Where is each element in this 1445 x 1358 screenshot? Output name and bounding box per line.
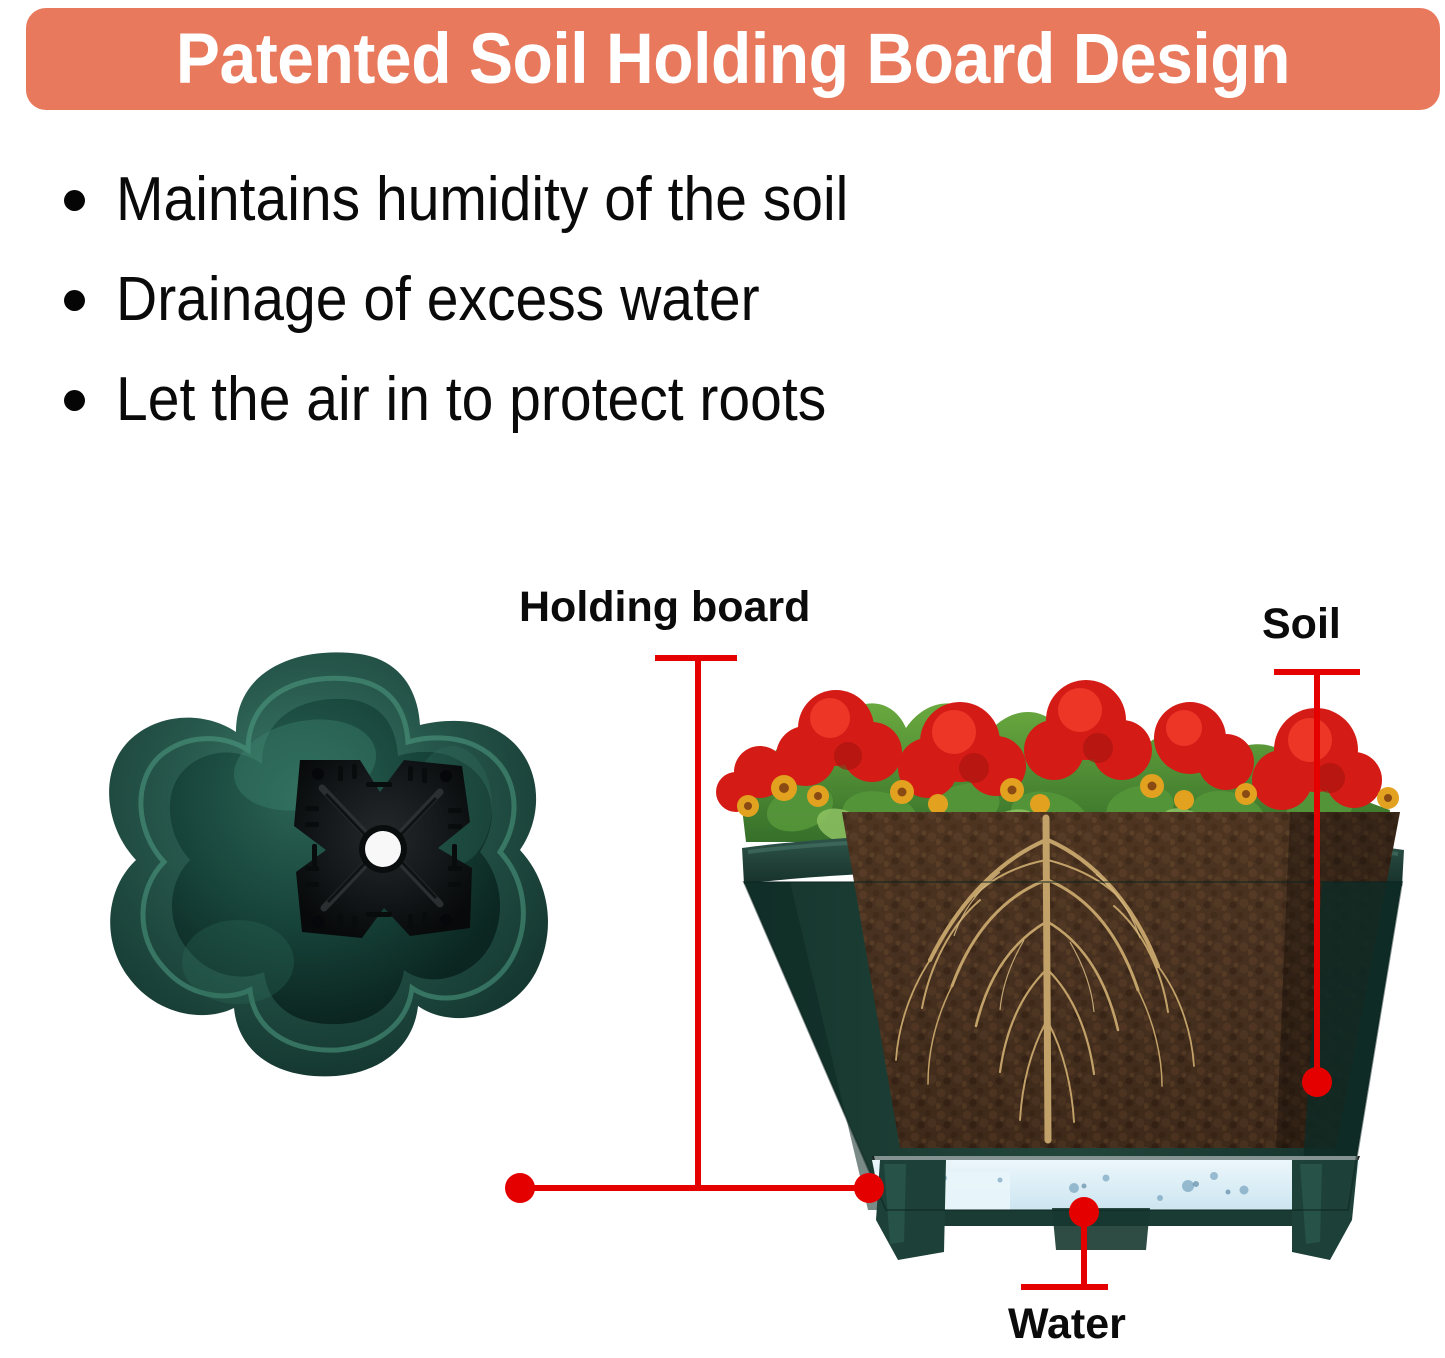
left-planter-illustration <box>109 652 548 1076</box>
callout-label-water: Water <box>1008 1303 1126 1346</box>
bullet-dot-icon <box>64 290 85 311</box>
benefit-text: Let the air in to protect roots <box>116 369 826 431</box>
benefit-text: Drainage of excess water <box>116 269 760 331</box>
benefit-text: Maintains humidity of the soil <box>116 169 848 231</box>
list-item: Drainage of excess water <box>58 250 1158 350</box>
callout-label-holding-board: Holding board <box>519 586 810 629</box>
list-item: Maintains humidity of the soil <box>58 150 1158 250</box>
cross-section-illustration <box>716 680 1420 1260</box>
bullet-dot-icon <box>64 190 85 211</box>
page-title: Patented Soil Holding Board Design <box>176 24 1290 95</box>
header-banner: Patented Soil Holding Board Design <box>26 8 1440 110</box>
bullet-dot-icon <box>64 390 85 411</box>
planter-sheen <box>182 920 294 1004</box>
benefit-list: Maintains humidity of the soil Drainage … <box>58 150 1158 450</box>
illustration-stage <box>0 560 1445 1300</box>
callout-label-soil: Soil <box>1262 603 1341 646</box>
drain-hole-icon <box>365 831 401 867</box>
list-item: Let the air in to protect roots <box>58 350 1158 450</box>
